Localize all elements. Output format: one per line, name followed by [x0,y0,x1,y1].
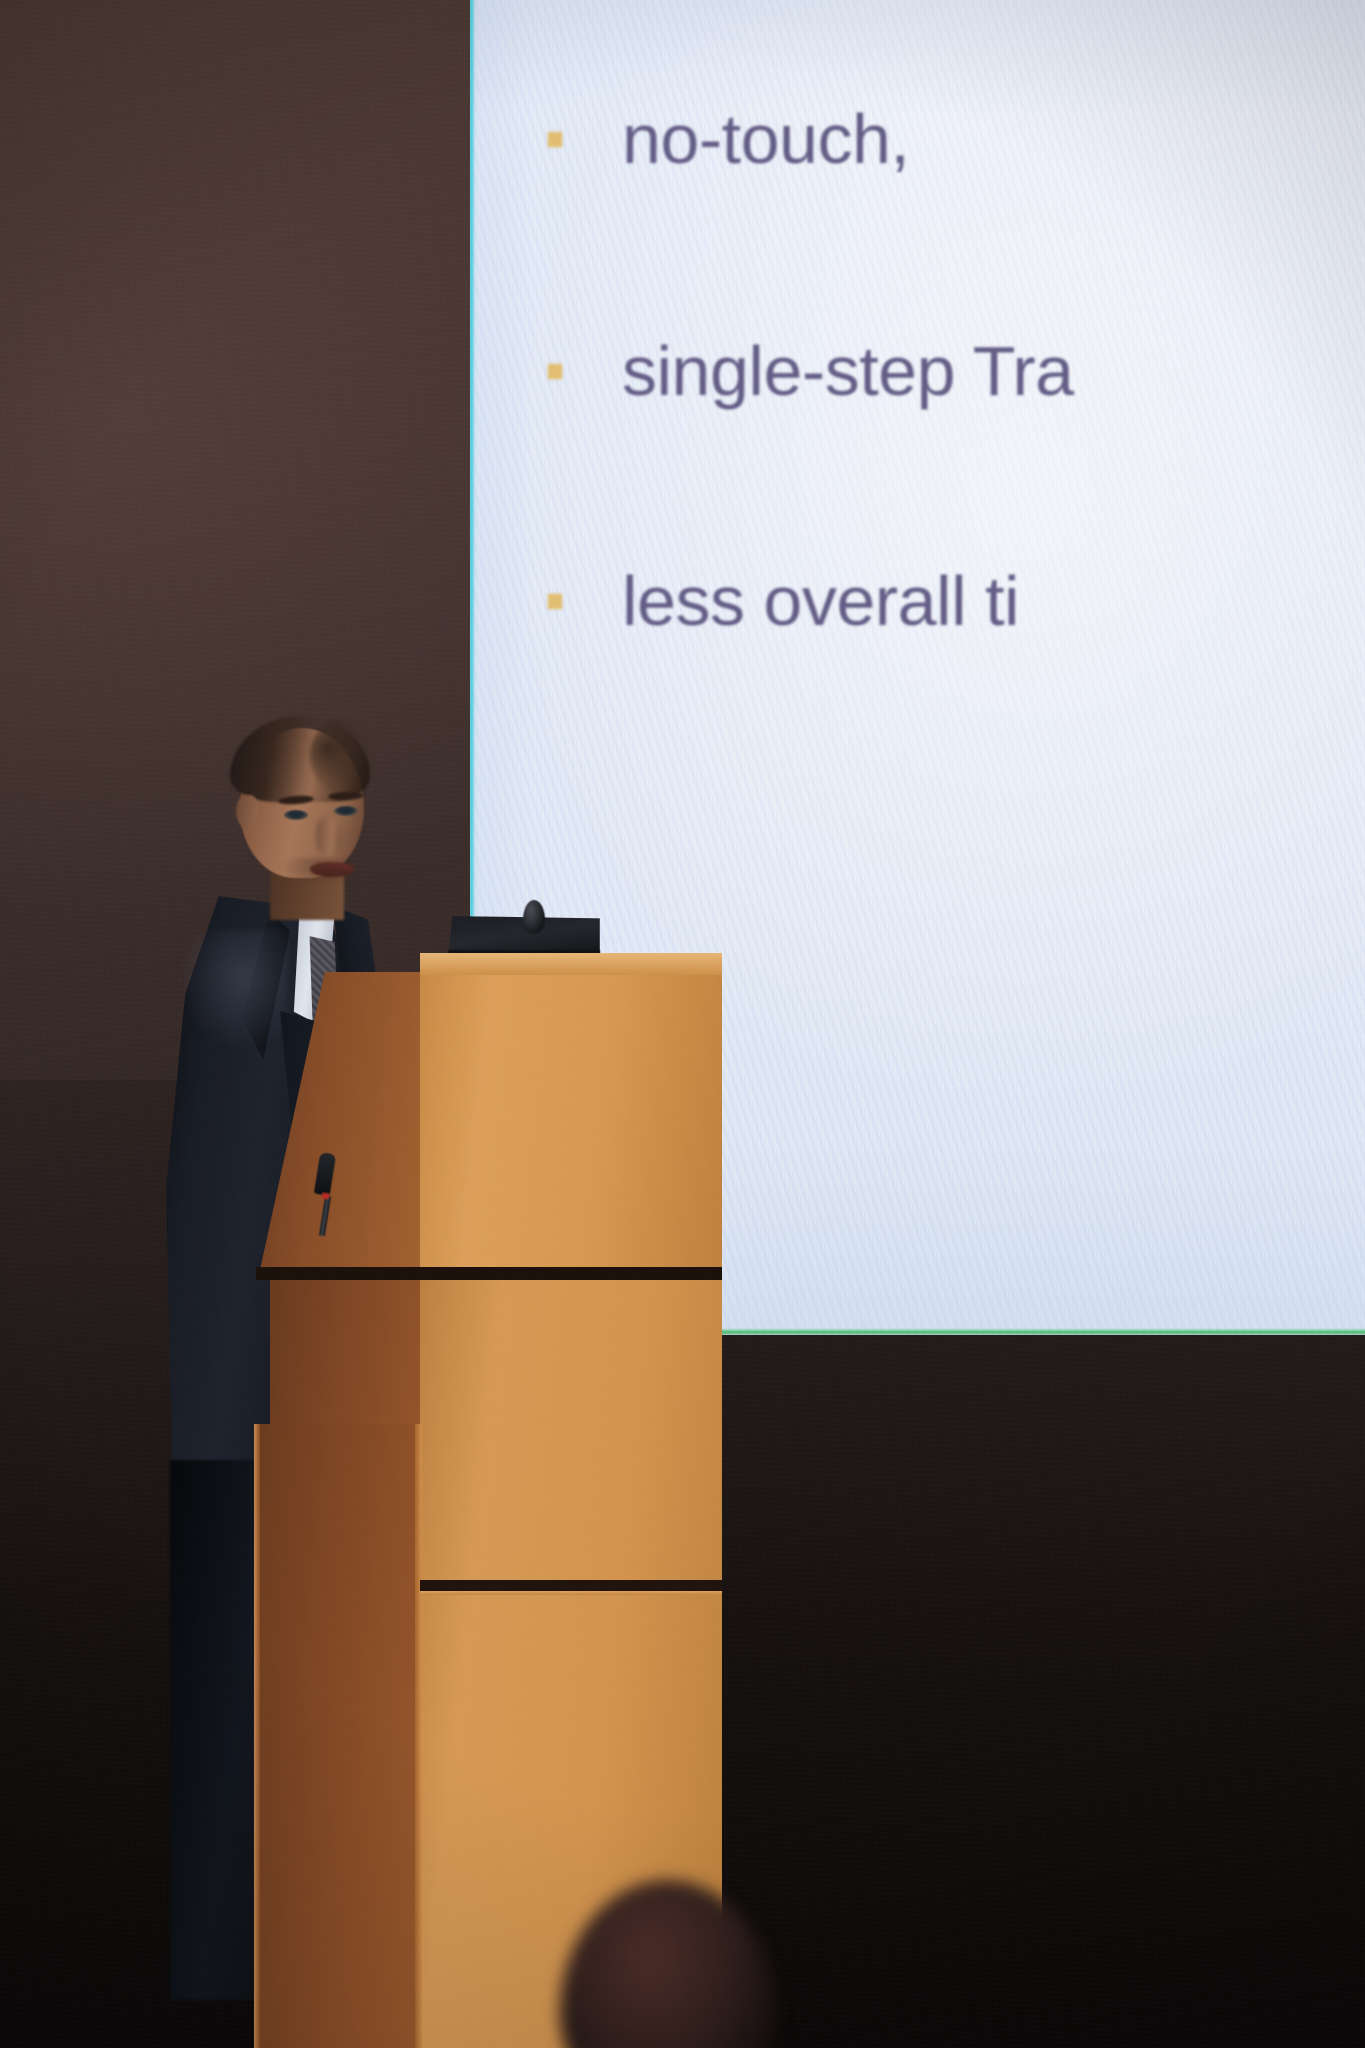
lectern-horizontal-seam [420,1580,722,1591]
lectern-microphone-icon [523,900,545,934]
lectern-top-edge [420,953,722,975]
chin-shadow [280,858,360,884]
presentation-photo-scene: no-touch, single-step Tra less overall t… [0,0,1365,2048]
lectern-base-panel [254,1424,422,2048]
square-bullet-icon [548,364,562,379]
nose [316,816,342,856]
ear [236,795,258,829]
slide-bullet-text-1: no-touch, [622,104,909,174]
hair-highlight [310,720,372,792]
eye-left [284,810,308,820]
square-bullet-icon [548,132,562,147]
slide-bullet-text-2: single-step Tra [622,336,1074,406]
slide-bullet-row-1: no-touch, [548,104,909,174]
lectern-base-highlight [254,1424,260,2048]
microphone-indicator-light [322,1192,330,1199]
lectern-mid-column [270,1280,422,1425]
lectern-seam-highlight [420,1591,722,1595]
lectern-reveal-gap [256,1267,722,1280]
square-bullet-icon [548,594,562,609]
slide-bullet-text-3: less overall ti [622,566,1019,636]
eye-right [334,806,358,816]
lectern-left-panel [260,972,422,1270]
lectern-front-upper [420,972,722,1267]
lectern-base-edge [415,1424,422,2048]
slide-bullet-row-2: single-step Tra [548,336,1074,406]
slide-bullet-row-3: less overall ti [548,566,1019,636]
